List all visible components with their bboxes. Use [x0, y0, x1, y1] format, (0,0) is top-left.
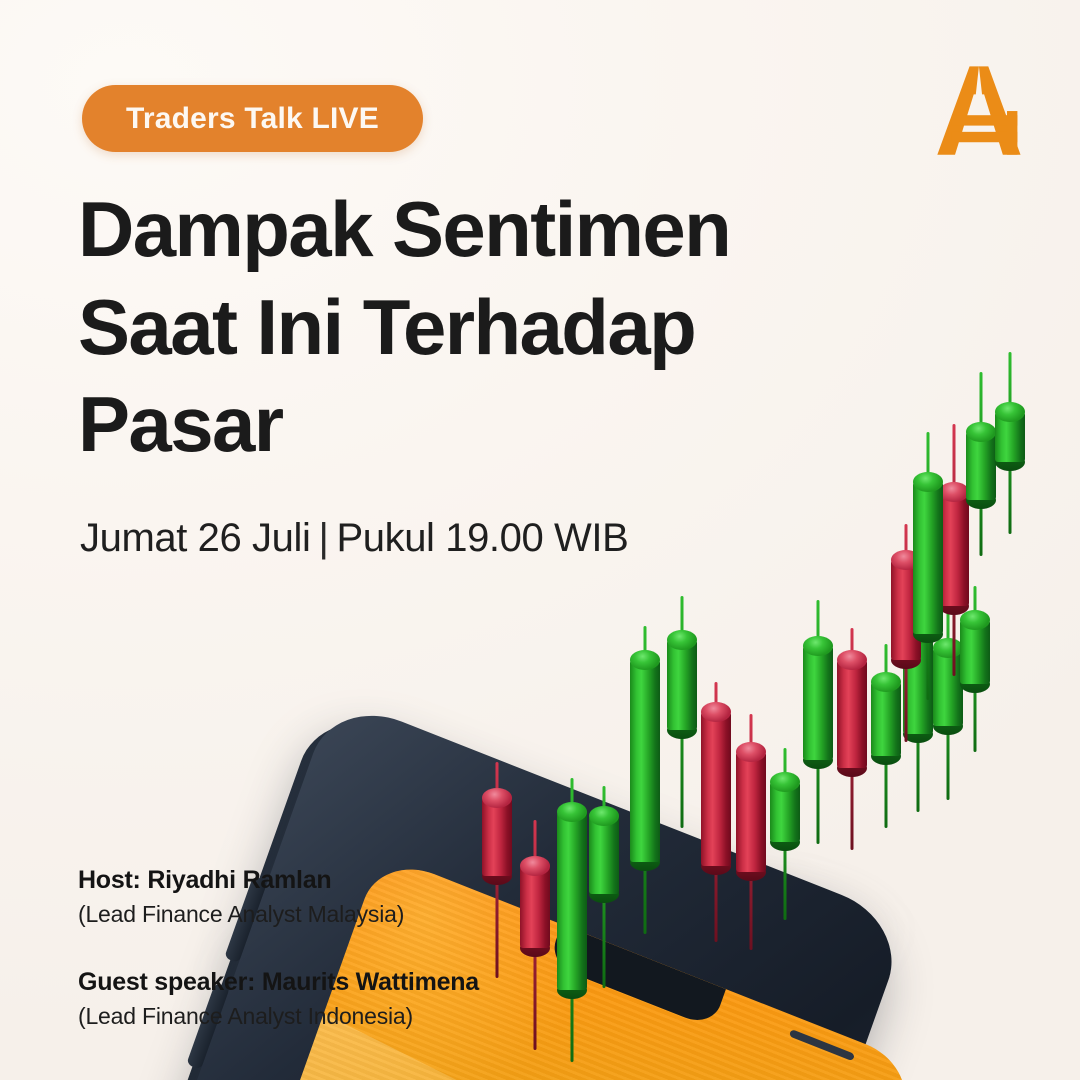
event-date: Jumat 26 Juli: [80, 516, 310, 560]
brand-logo-icon: [928, 58, 1034, 162]
guest-role: (Lead Finance Analyst Indonesia): [78, 1003, 479, 1030]
speaker-list: Host: Riyadhi Ramlan (Lead Finance Analy…: [78, 866, 479, 1030]
page-title-line-2: Saat Ini Terhadap: [78, 290, 798, 366]
host-entry: Host: Riyadhi Ramlan (Lead Finance Analy…: [78, 866, 479, 928]
page-title: Dampak Sentimen Saat Ini Terhadap Pasar: [78, 192, 798, 485]
host-name: Host: Riyadhi Ramlan: [78, 866, 479, 895]
schedule-separator: |: [318, 516, 328, 561]
host-role: (Lead Finance Analyst Malaysia): [78, 901, 479, 928]
guest-entry: Guest speaker: Maurits Wattimena (Lead F…: [78, 968, 479, 1030]
live-badge[interactable]: Traders Talk LIVE: [82, 85, 423, 152]
event-time: Pukul 19.00 WIB: [336, 516, 628, 560]
page-title-line-1: Dampak Sentimen: [78, 192, 798, 268]
event-schedule: Jumat 26 Juli|Pukul 19.00 WIB: [80, 516, 628, 561]
poster-content: Traders Talk LIVE Dampak Sentimen Saat I…: [0, 0, 1080, 1080]
speaker-list-divider: [78, 928, 479, 968]
page-title-line-3: Pasar: [78, 387, 798, 463]
promo-poster: Traders Talk LIVE Dampak Sentimen Saat I…: [0, 0, 1080, 1080]
live-badge-label: Traders Talk LIVE: [126, 102, 379, 136]
guest-name: Guest speaker: Maurits Wattimena: [78, 968, 479, 997]
